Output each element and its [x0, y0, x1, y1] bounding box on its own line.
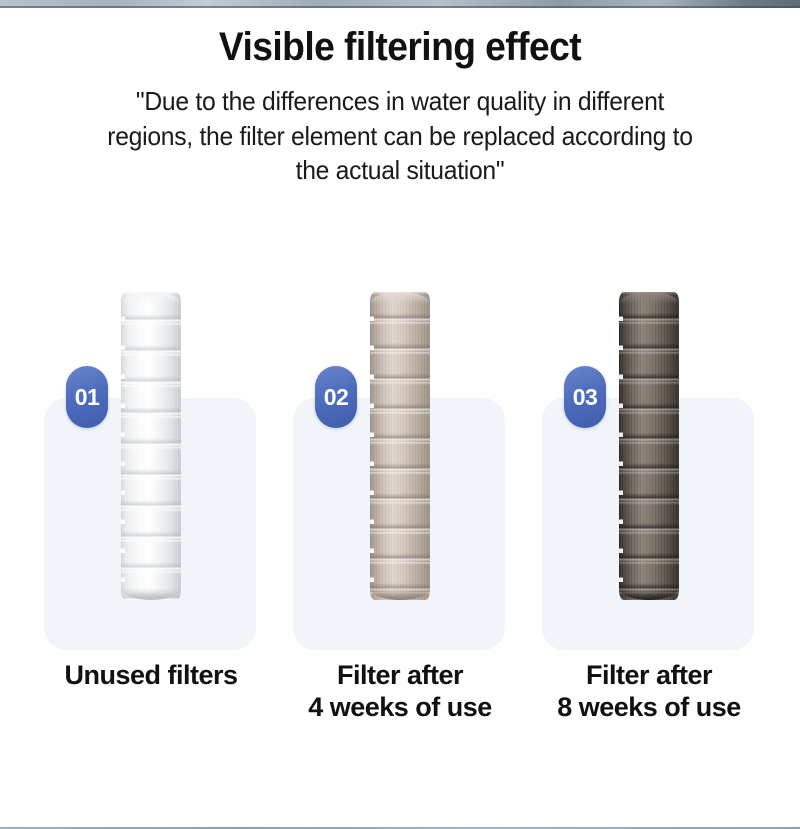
filter-fibre-texture — [370, 292, 430, 600]
caption-line-1: Filter after — [275, 660, 525, 692]
comparison-item-4-weeks: 02 Filter after 4 weeks of use — [275, 0, 525, 460]
step-badge-label: 03 — [573, 386, 598, 409]
filter-cartridge-icon — [370, 292, 430, 600]
comparison-row: 01 Unused filters 02 — [0, 0, 800, 829]
caption-line-2: 8 weeks of use — [524, 692, 774, 724]
caption-line-1: Unused filters — [26, 660, 276, 692]
step-badge-label: 02 — [324, 386, 349, 409]
caption-line-1: Filter after — [524, 660, 774, 692]
filter-fibre-texture — [121, 292, 181, 600]
filter-image-4-weeks — [275, 292, 525, 608]
filter-cartridge-icon — [619, 292, 679, 600]
item-caption: Filter after 8 weeks of use — [524, 660, 774, 724]
comparison-item-unused: 01 Unused filters — [26, 0, 276, 460]
filter-fibre-texture — [619, 292, 679, 600]
filter-image-unused — [26, 292, 276, 608]
filter-edge-nicks — [619, 292, 623, 600]
item-caption: Unused filters — [26, 660, 276, 692]
item-caption: Filter after 4 weeks of use — [275, 660, 525, 724]
step-badge-label: 01 — [75, 386, 100, 409]
filter-edge-nicks — [121, 292, 125, 600]
filter-edge-nicks — [370, 292, 374, 600]
caption-line-2: 4 weeks of use — [275, 692, 525, 724]
step-badge-03: 03 — [564, 366, 606, 428]
filter-image-8-weeks — [524, 292, 774, 608]
step-badge-01: 01 — [66, 366, 108, 428]
product-infographic: Visible filtering effect "Due to the dif… — [0, 0, 800, 829]
step-badge-02: 02 — [315, 366, 357, 428]
comparison-item-8-weeks: 03 Filter after 8 weeks of use — [524, 0, 774, 460]
filter-cartridge-icon — [121, 292, 181, 600]
